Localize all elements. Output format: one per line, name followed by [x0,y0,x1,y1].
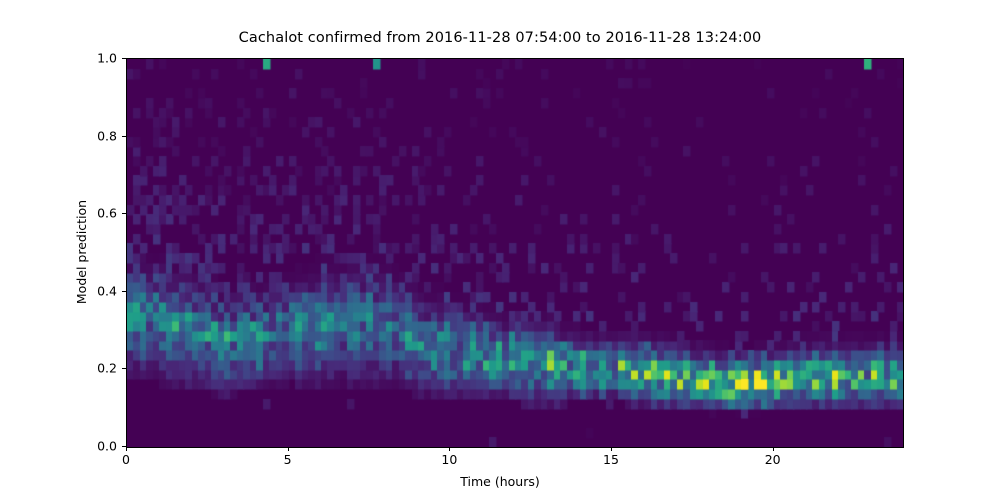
y-tick-label: 0.6 [85,206,117,221]
y-tick-mark [122,368,126,369]
x-tick-mark [288,447,289,451]
heatmap-plot-area [126,58,904,448]
y-tick-mark [122,446,126,447]
x-tick-mark [773,447,774,451]
y-tick-mark [122,58,126,59]
y-tick-label: 0.4 [85,283,117,298]
x-tick-mark [611,447,612,451]
x-tick-mark [449,447,450,451]
heatmap-canvas [127,59,903,447]
x-tick-label: 10 [441,452,457,467]
figure-canvas: Cachalot confirmed from 2016-11-28 07:54… [0,0,1000,500]
y-tick-label: 0.2 [85,361,117,376]
y-tick-label: 0.8 [85,128,117,143]
x-axis-label: Time (hours) [0,474,1000,489]
y-tick-mark [122,136,126,137]
y-tick-label: 0.0 [85,439,117,454]
x-tick-label: 0 [122,452,130,467]
x-tick-label: 20 [765,452,781,467]
page-title: Cachalot confirmed from 2016-11-28 07:54… [0,30,1000,46]
y-tick-label: 1.0 [85,51,117,66]
y-axis-label: Model prediction [74,58,89,446]
y-tick-mark [122,291,126,292]
x-tick-label: 5 [284,452,292,467]
x-tick-mark [126,447,127,451]
y-tick-mark [122,213,126,214]
x-tick-label: 15 [603,452,619,467]
